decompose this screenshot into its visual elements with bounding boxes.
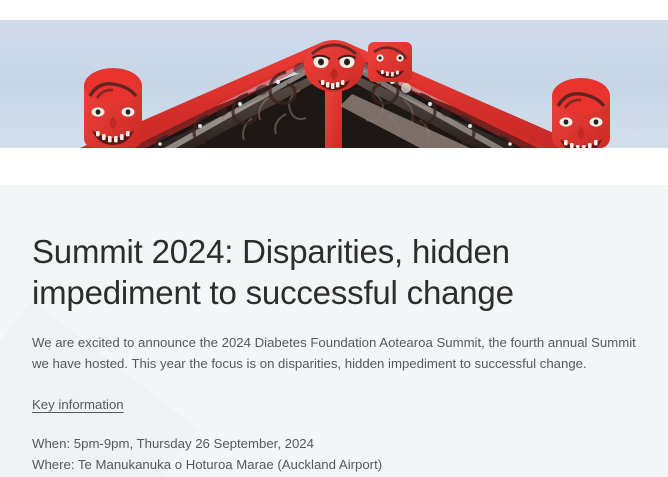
poupou-right-figure [552, 78, 610, 148]
hero-banner-marae [0, 20, 668, 148]
page-title: Summit 2024: Disparities, hidden impedim… [32, 231, 637, 314]
marae-carving-illustration [0, 20, 668, 148]
hero-content-divider [0, 148, 668, 185]
event-details-list: When: 5pm-9pm, Thursday 26 September, 20… [32, 433, 637, 477]
detail-where: Where: Te Manukanuka o Hoturoa Marae (Au… [32, 454, 637, 475]
detail-when: When: 5pm-9pm, Thursday 26 September, 20… [32, 433, 637, 454]
poupou-left-figure [84, 68, 142, 148]
intro-paragraph: We are excited to announce the 2024 Diab… [32, 332, 637, 375]
key-information-link[interactable]: Key information [32, 395, 124, 415]
top-white-strip [0, 0, 668, 20]
article-content-section: Summit 2024: Disparities, hidden impedim… [0, 185, 668, 477]
page-root: Summit 2024: Disparities, hidden impedim… [0, 0, 668, 477]
tekoteko-apex-mask [304, 40, 364, 92]
